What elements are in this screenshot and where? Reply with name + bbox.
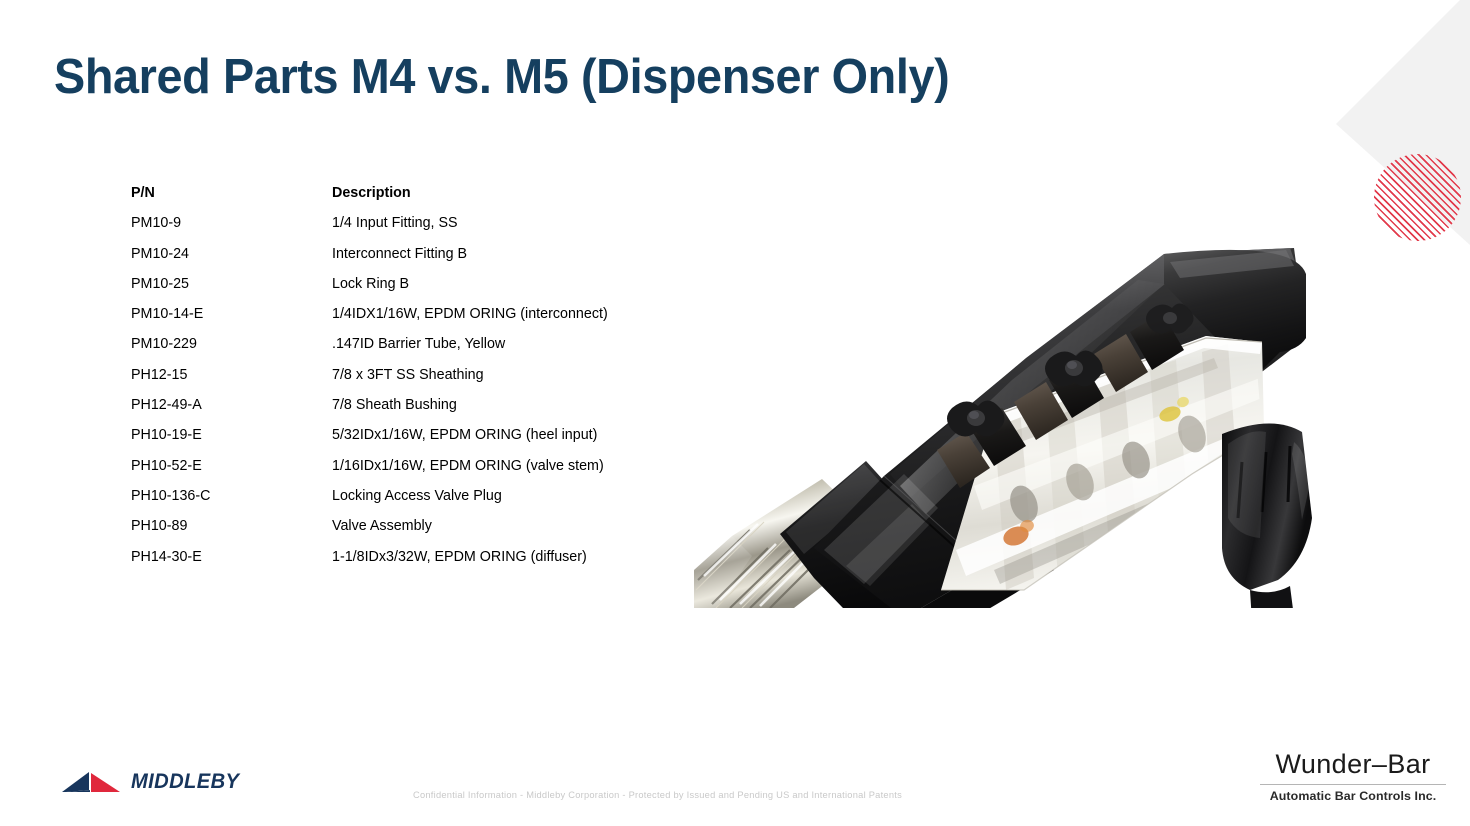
cell-description: 1/4 Input Fitting, SS (332, 214, 691, 232)
clear-valve-block (941, 336, 1264, 590)
cell-pn: PH14-30-E (131, 548, 332, 566)
table-row: PH10-89 Valve Assembly (131, 517, 691, 547)
cell-description: Lock Ring B (332, 275, 691, 293)
cell-description: Interconnect Fitting B (332, 245, 691, 263)
pn-value: PM10-25 (131, 275, 189, 293)
pn-value: PM10-229 (131, 335, 197, 353)
cell-pn: PM10-24 (131, 245, 332, 263)
description-value: Valve Assembly (332, 517, 432, 535)
pn-value: PM10-14-E (131, 305, 203, 323)
table-row: PH10-136-C Locking Access Valve Plug (131, 487, 691, 517)
table-row: PH12-49-A 7/8 Sheath Bushing (131, 396, 691, 426)
column-header-description-cell: Description (332, 184, 691, 202)
pn-value: PH12-15 (131, 366, 187, 384)
diffuser-nozzle (1222, 423, 1312, 608)
pn-value: PH10-19-E (131, 426, 202, 444)
cell-description: 5/32IDx1/16W, EPDM ORING (heel input) (332, 426, 691, 444)
description-value: Locking Access Valve Plug (332, 487, 502, 505)
cell-pn: PH12-15 (131, 366, 332, 384)
description-value: 5/32IDx1/16W, EPDM ORING (heel input) (332, 426, 597, 444)
cell-description: Valve Assembly (332, 517, 691, 535)
pn-value: PM10-9 (131, 214, 181, 232)
cell-pn: PH10-19-E (131, 426, 332, 444)
table-row: PM10-14-E 1/4IDX1/16W, EPDM ORING (inter… (131, 305, 691, 335)
description-value: 7/8 Sheath Bushing (332, 396, 457, 414)
parts-table: P/N Description PM10-9 1/4 Input Fitting… (131, 184, 691, 578)
description-value: .147ID Barrier Tube, Yellow (332, 335, 505, 353)
dispenser-gun-photo (694, 218, 1334, 608)
pn-value: PH10-89 (131, 517, 187, 535)
cell-pn: PH10-52-E (131, 457, 332, 475)
table-row: PH10-52-E 1/16IDx1/16W, EPDM ORING (valv… (131, 457, 691, 487)
description-value: 1/16IDx1/16W, EPDM ORING (valve stem) (332, 457, 604, 475)
table-row: PM10-229 .147ID Barrier Tube, Yellow (131, 335, 691, 365)
wunderbar-logo: Wunder–Bar Automatic Bar Controls Inc. (1258, 750, 1448, 804)
column-header-description: Description (332, 184, 411, 202)
locking-access-valve-plug (1045, 350, 1103, 386)
locking-access-valve-plug (1146, 303, 1194, 333)
slide-canvas: Shared Parts M4 vs. M5 (Dispenser Only) … (0, 0, 1470, 826)
table-row: PH14-30-E 1-1/8IDx3/32W, EPDM ORING (dif… (131, 548, 691, 578)
cell-pn: PM10-14-E (131, 305, 332, 323)
page-title: Shared Parts M4 vs. M5 (Dispenser Only) (54, 52, 949, 103)
pn-value: PH14-30-E (131, 548, 202, 566)
dispenser-gun-illustration (694, 218, 1334, 608)
cell-pn: PM10-9 (131, 214, 332, 232)
description-value: Interconnect Fitting B (332, 245, 467, 263)
table-row: PM10-25 Lock Ring B (131, 275, 691, 305)
middleby-logo: MIDDLEBY (62, 766, 218, 796)
wunderbar-tagline: Automatic Bar Controls Inc. (1258, 789, 1448, 804)
description-value: Lock Ring B (332, 275, 409, 293)
pn-value: PH10-136-C (131, 487, 210, 505)
middleby-wordmark: MIDDLEBY (131, 771, 239, 792)
description-value: 1-1/8IDx3/32W, EPDM ORING (diffuser) (332, 548, 587, 566)
cell-pn: PM10-25 (131, 275, 332, 293)
cell-description: 1-1/8IDx3/32W, EPDM ORING (diffuser) (332, 548, 691, 566)
table-row: PH12-15 7/8 x 3FT SS Sheathing (131, 366, 691, 396)
cell-pn: PH10-89 (131, 517, 332, 535)
cell-pn: PM10-229 (131, 335, 332, 353)
description-value: 7/8 x 3FT SS Sheathing (332, 366, 484, 384)
cell-description: .147ID Barrier Tube, Yellow (332, 335, 691, 353)
cell-pn: PH12-49-A (131, 396, 332, 414)
wunderbar-divider (1260, 784, 1446, 785)
cell-pn: PH10-136-C (131, 487, 332, 505)
description-value: 1/4IDX1/16W, EPDM ORING (interconnect) (332, 305, 608, 323)
cell-description: Locking Access Valve Plug (332, 487, 691, 505)
table-header-row: P/N Description (131, 184, 691, 214)
table-row: PH10-19-E 5/32IDx1/16W, EPDM ORING (heel… (131, 426, 691, 456)
cell-description: 1/16IDx1/16W, EPDM ORING (valve stem) (332, 457, 691, 475)
pn-value: PM10-24 (131, 245, 189, 263)
cell-description: 7/8 x 3FT SS Sheathing (332, 366, 691, 384)
locking-access-valve-plug (947, 400, 1005, 436)
table-row: PM10-24 Interconnect Fitting B (131, 245, 691, 275)
column-header-pn-cell: P/N (131, 184, 332, 202)
table-row: PM10-9 1/4 Input Fitting, SS (131, 214, 691, 244)
cell-description: 1/4IDX1/16W, EPDM ORING (interconnect) (332, 305, 691, 323)
column-header-pn: P/N (131, 184, 155, 202)
description-value: 1/4 Input Fitting, SS (332, 214, 458, 232)
pn-value: PH12-49-A (131, 396, 202, 414)
cell-description: 7/8 Sheath Bushing (332, 396, 691, 414)
middleby-mark-icon (62, 768, 126, 794)
wunderbar-name: Wunder–Bar (1258, 750, 1448, 780)
pn-value: PH10-52-E (131, 457, 202, 475)
confidential-footer-note: Confidential Information - Middleby Corp… (413, 789, 902, 802)
red-striped-circle (1374, 154, 1461, 241)
